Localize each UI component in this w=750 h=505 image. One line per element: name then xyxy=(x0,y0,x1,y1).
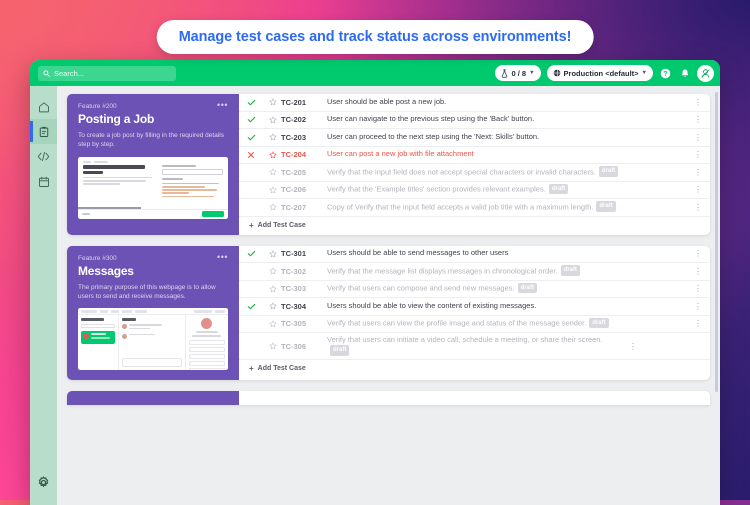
test-case-id: TC-204 xyxy=(281,150,327,159)
table-row[interactable]: TC-202 User can navigate to the previous… xyxy=(239,112,710,130)
add-test-case-button[interactable]: + Add Test Case xyxy=(239,217,710,235)
row-options-icon[interactable]: ⋮ xyxy=(692,153,704,156)
test-case-title: User should be able post a new job. xyxy=(327,97,692,108)
feature-thumbnail[interactable] xyxy=(78,308,228,370)
environment-label: Production <default> xyxy=(564,69,639,78)
add-test-case-button[interactable]: + Add Test Case xyxy=(239,360,710,378)
row-options-icon[interactable]: ⋮ xyxy=(692,188,704,191)
test-run-badge[interactable]: 0 / 8 ▼ xyxy=(495,65,540,81)
calendar-icon xyxy=(38,176,50,188)
row-options-icon[interactable]: ⋮ xyxy=(692,322,704,325)
test-case-title: Users should be able to view the content… xyxy=(327,301,692,312)
help-circle-icon[interactable]: ? xyxy=(659,67,672,80)
promo-banner: Manage test cases and track status acros… xyxy=(157,20,594,54)
test-case-id: TC-306 xyxy=(281,342,327,351)
preview-chat-pane xyxy=(119,315,185,370)
gear-icon xyxy=(37,476,50,489)
row-options-icon[interactable]: ⋮ xyxy=(692,171,704,174)
star-icon[interactable] xyxy=(264,133,281,141)
feature-options-icon[interactable]: ••• xyxy=(217,103,228,107)
test-case-list: TC-201 User should be able post a new jo… xyxy=(239,94,710,235)
globe-icon xyxy=(553,69,561,77)
feature-description: To create a job post by filling in the r… xyxy=(78,131,228,150)
star-icon[interactable] xyxy=(264,342,281,350)
feature-thumbnail[interactable] xyxy=(78,157,228,219)
test-case-id: TC-305 xyxy=(281,319,327,328)
plus-icon: + xyxy=(249,221,254,230)
job-form-preview xyxy=(78,157,228,219)
table-row[interactable]: TC-301 Users should be able to send mess… xyxy=(239,246,710,264)
test-case-title: Copy of Verify that the input field acce… xyxy=(327,202,692,213)
preview-columns xyxy=(83,165,223,199)
preview-subheading xyxy=(83,171,103,174)
test-case-title: Users should be able to send messages to… xyxy=(327,248,692,259)
table-row[interactable]: TC-304 Users should be able to view the … xyxy=(239,298,710,316)
test-case-title: Verify that the 'Example titles' section… xyxy=(327,184,692,195)
status-badge: draft xyxy=(599,166,618,177)
table-row[interactable]: TC-205 Verify that the input field does … xyxy=(239,164,710,182)
status-passed-icon xyxy=(247,302,264,311)
row-options-icon[interactable]: ⋮ xyxy=(692,287,704,290)
row-options-icon[interactable]: ⋮ xyxy=(692,101,704,104)
preview-back-button xyxy=(82,213,90,215)
table-row[interactable]: TC-204 User can post a new job with file… xyxy=(239,147,710,165)
test-case-title-text: Verify that the message list displays me… xyxy=(327,266,558,275)
status-badge: draft xyxy=(561,265,580,276)
chevron-down-icon: ▼ xyxy=(642,70,647,76)
search-icon xyxy=(43,70,50,77)
star-icon[interactable] xyxy=(264,151,281,159)
feature-title: Posting a Job xyxy=(78,112,228,126)
preview-toolbar xyxy=(78,308,228,315)
feature-header: Feature #300 ••• xyxy=(78,255,228,262)
preview-message xyxy=(122,334,182,339)
table-row[interactable]: TC-207 Copy of Verify that the input fie… xyxy=(239,199,710,217)
row-options-icon[interactable]: ⋮ xyxy=(692,270,704,273)
feature-summary-panel: Feature #200 ••• Posting a Job To create… xyxy=(67,94,239,235)
test-case-title: Verify that users can view the profile i… xyxy=(327,318,692,329)
status-failed-icon xyxy=(247,151,264,159)
chevron-down-icon: ▼ xyxy=(529,70,534,76)
test-case-title: User can proceed to the next step using … xyxy=(327,132,692,143)
status-passed-icon xyxy=(247,249,264,258)
preview-conversation-list xyxy=(78,315,119,370)
star-icon[interactable] xyxy=(264,285,281,293)
sidebar-item-calendar[interactable] xyxy=(30,169,57,194)
preview-left-column xyxy=(83,165,155,199)
sidebar-item-code[interactable] xyxy=(30,144,57,169)
star-icon[interactable] xyxy=(264,203,281,211)
table-row[interactable]: TC-306 Verify that users can initiate a … xyxy=(239,333,710,360)
preview-message-input xyxy=(122,358,182,367)
bell-icon[interactable] xyxy=(678,67,691,80)
left-sidebar xyxy=(30,86,57,505)
search-input[interactable]: Search... xyxy=(38,66,176,81)
feature-header: Feature #200 ••• xyxy=(78,103,228,110)
test-run-count: 0 / 8 xyxy=(511,69,526,78)
test-case-id: TC-202 xyxy=(281,115,327,124)
test-case-id: TC-304 xyxy=(281,302,327,311)
sidebar-item-home[interactable] xyxy=(30,94,57,119)
preview-next-button xyxy=(202,211,224,217)
test-case-title: Verify that users can initiate a video c… xyxy=(327,335,627,357)
row-options-icon[interactable]: ⋮ xyxy=(692,252,704,255)
feature-id: Feature #200 xyxy=(78,103,117,110)
status-badge: draft xyxy=(589,318,608,329)
test-case-id: TC-205 xyxy=(281,168,327,177)
test-case-title: Verify that the input field does not acc… xyxy=(327,167,692,178)
row-options-icon[interactable]: ⋮ xyxy=(692,206,704,209)
status-passed-icon xyxy=(247,98,264,107)
test-case-title: User can post a new job with file attach… xyxy=(327,149,692,160)
star-icon[interactable] xyxy=(264,250,281,258)
table-row[interactable]: TC-303 Verify that users can compose and… xyxy=(239,281,710,299)
test-case-title-text: Verify that users can view the profile i… xyxy=(327,318,586,327)
star-icon[interactable] xyxy=(264,98,281,106)
code-icon xyxy=(37,151,50,162)
status-badge: draft xyxy=(596,201,615,212)
search-placeholder: Search... xyxy=(54,69,84,78)
messenger-preview xyxy=(78,308,228,370)
star-icon[interactable] xyxy=(264,168,281,176)
star-icon[interactable] xyxy=(264,320,281,328)
row-options-icon[interactable]: ⋮ xyxy=(692,136,704,139)
test-case-title: User can navigate to the previous step u… xyxy=(327,114,692,125)
feature-options-icon[interactable]: ••• xyxy=(217,255,228,259)
add-test-case-label: Add Test Case xyxy=(258,365,306,372)
star-icon[interactable] xyxy=(264,302,281,310)
status-badge: draft xyxy=(549,184,568,195)
test-case-id: TC-201 xyxy=(281,98,327,107)
sidebar-item-test-cases[interactable] xyxy=(30,119,57,144)
test-case-list: TC-301 Users should be able to send mess… xyxy=(239,246,710,381)
clipboard-icon xyxy=(38,126,50,138)
feature-card: Feature #200 ••• Posting a Job To create… xyxy=(67,94,710,235)
test-case-title: Verify that the message list displays me… xyxy=(327,266,692,277)
feature-summary-panel: Feature #300 ••• Messages The primary pu… xyxy=(67,246,239,381)
feature-id: Feature #300 xyxy=(78,255,117,262)
status-passed-icon xyxy=(247,133,264,142)
test-case-id: TC-206 xyxy=(281,185,327,194)
preview-footer xyxy=(78,209,228,219)
table-row[interactable]: TC-203 User can proceed to the next step… xyxy=(239,129,710,147)
preview-body xyxy=(78,315,228,370)
preview-profile-pane xyxy=(185,315,229,370)
table-row[interactable]: TC-305 Verify that users can view the pr… xyxy=(239,316,710,334)
topbar-actions: 0 / 8 ▼ Production <default> ▼ ? xyxy=(495,65,714,82)
test-case-title: Verify that users can compose and send n… xyxy=(327,283,692,294)
test-case-id: TC-302 xyxy=(281,267,327,276)
flask-icon xyxy=(501,69,508,78)
main-content: Feature #200 ••• Posting a Job To create… xyxy=(57,86,720,505)
table-row[interactable]: TC-206 Verify that the 'Example titles' … xyxy=(239,182,710,200)
vertical-scrollbar[interactable] xyxy=(715,92,718,392)
star-icon[interactable] xyxy=(264,186,281,194)
test-case-id: TC-301 xyxy=(281,249,327,258)
test-case-title-text: Verify that the input field does not acc… xyxy=(327,167,596,176)
app-body: Feature #200 ••• Posting a Job To create… xyxy=(30,86,720,505)
feature-card-partial xyxy=(67,391,710,405)
test-case-id: TC-207 xyxy=(281,203,327,212)
home-icon xyxy=(38,101,50,113)
preview-message xyxy=(122,324,182,330)
table-row[interactable]: TC-302 Verify that the message list disp… xyxy=(239,263,710,281)
feature-title: Messages xyxy=(78,264,228,278)
row-options-icon[interactable]: ⋮ xyxy=(692,118,704,121)
row-options-icon[interactable]: ⋮ xyxy=(692,305,704,308)
svg-text:?: ? xyxy=(663,70,667,77)
feature-summary-panel xyxy=(67,391,239,405)
test-case-title-text: Verify that users can compose and send n… xyxy=(327,283,515,292)
test-case-title-text: Copy of Verify that the input field acce… xyxy=(327,202,593,211)
test-case-title-text: Verify that the 'Example titles' section… xyxy=(327,184,546,193)
table-row[interactable]: TC-201 User should be able post a new jo… xyxy=(239,94,710,112)
preview-input xyxy=(162,169,223,175)
status-badge: draft xyxy=(330,345,349,356)
test-case-title-text: Verify that users can initiate a video c… xyxy=(327,335,603,344)
feature-description: The primary purpose of this webpage is t… xyxy=(78,283,228,302)
test-case-id: TC-203 xyxy=(281,133,327,142)
test-case-id: TC-303 xyxy=(281,284,327,293)
app-window: Search... 0 / 8 ▼ Produc xyxy=(30,60,720,505)
feature-card: Feature #300 ••• Messages The primary pu… xyxy=(67,246,710,381)
user-avatar[interactable] xyxy=(697,65,714,82)
sidebar-item-settings[interactable] xyxy=(30,470,57,495)
preview-heading xyxy=(83,165,145,169)
promo-banner-text: Manage test cases and track status acros… xyxy=(179,29,572,45)
plus-icon: + xyxy=(249,364,254,373)
row-options-icon[interactable]: ⋮ xyxy=(627,345,639,348)
environment-selector[interactable]: Production <default> ▼ xyxy=(547,65,653,81)
app-topbar: Search... 0 / 8 ▼ Produc xyxy=(30,60,720,86)
status-passed-icon xyxy=(247,115,264,124)
status-badge: draft xyxy=(518,283,537,294)
preview-breadcrumb xyxy=(83,161,223,163)
preview-profile-avatar xyxy=(201,318,212,329)
add-test-case-label: Add Test Case xyxy=(258,222,306,229)
preview-active-conversation xyxy=(81,331,115,344)
preview-right-column xyxy=(162,165,223,199)
star-icon[interactable] xyxy=(264,116,281,124)
star-icon[interactable] xyxy=(264,267,281,275)
